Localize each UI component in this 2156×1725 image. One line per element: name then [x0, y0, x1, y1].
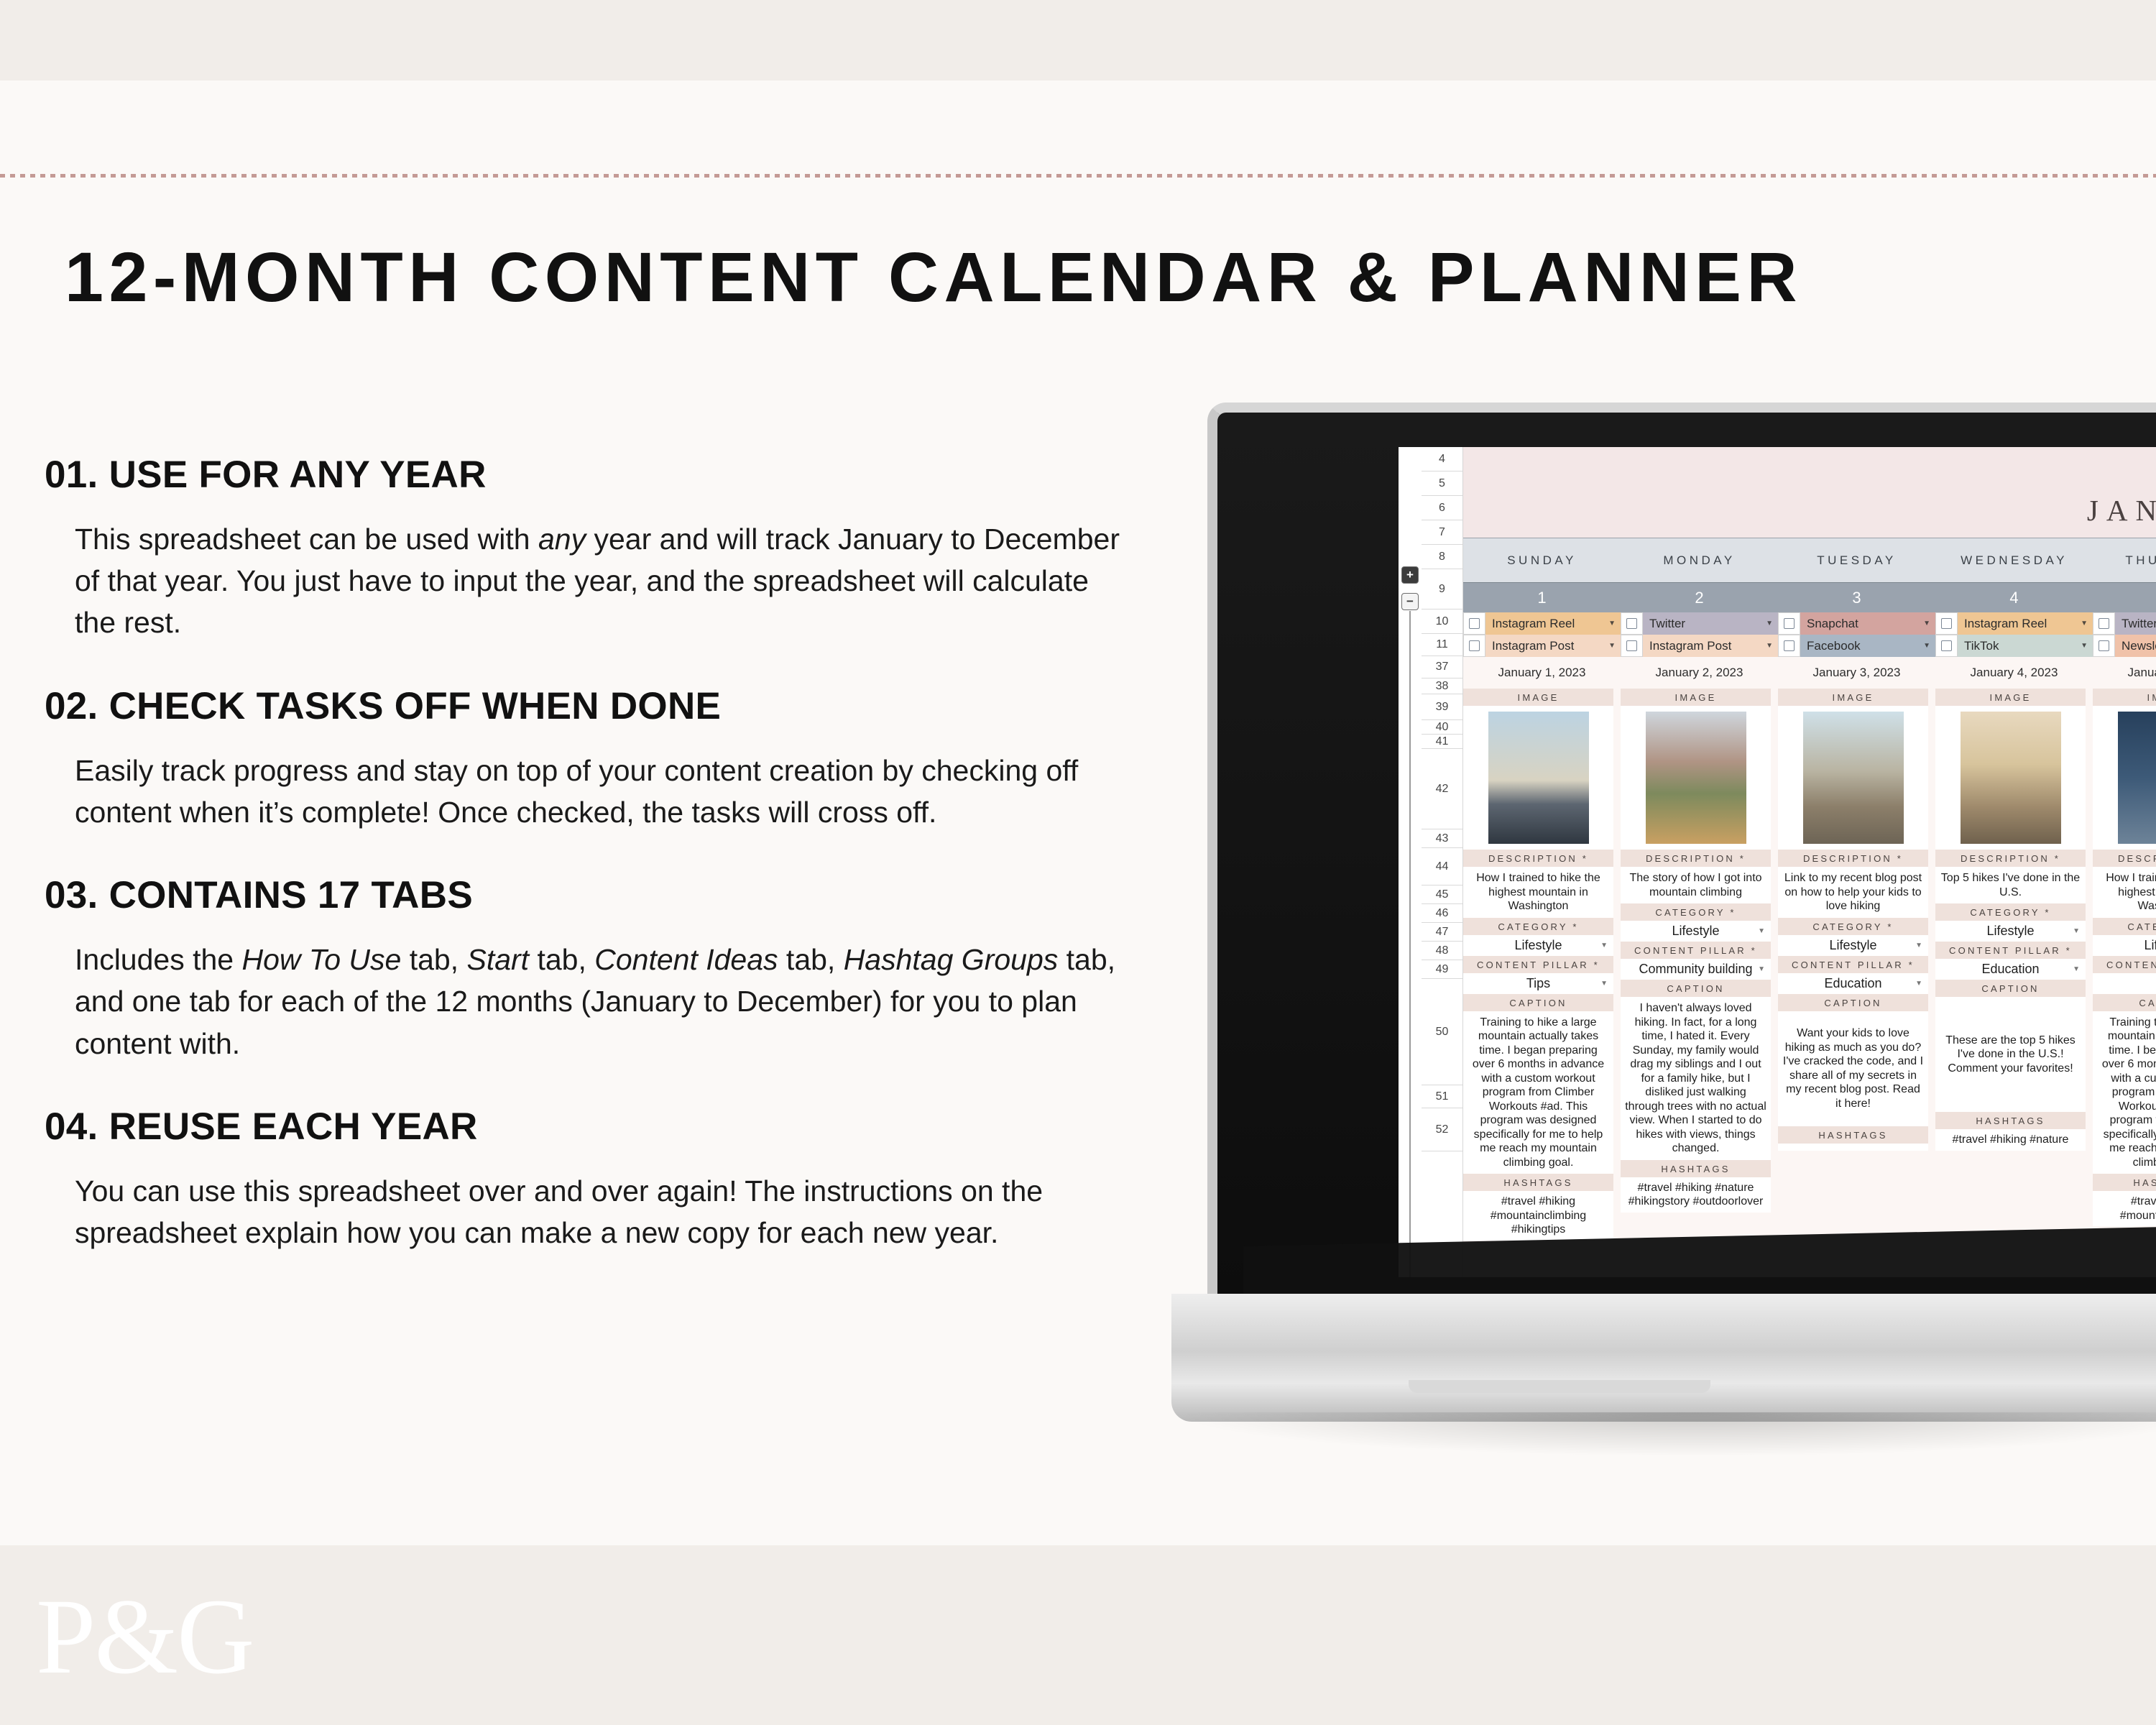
channel-label: Twitter: [1649, 617, 1685, 631]
description-field-label: DESCRIPTION *: [1778, 850, 1928, 867]
sheet-grid[interactable]: JANUARY SUNDAYMONDAYTUESDAYWEDNESDAYTHUR…: [1463, 447, 2156, 1277]
checkbox-icon: [1469, 618, 1480, 629]
content-pillar-field-label: CONTENT PILLAR *: [1778, 956, 1928, 973]
chevron-down-icon[interactable]: ▼: [1608, 620, 1616, 627]
chevron-down-icon[interactable]: ▼: [1915, 942, 1922, 949]
channel-label: Snapchat: [1807, 617, 1858, 631]
category-dropdown[interactable]: Lifestyle▼: [1935, 921, 2086, 942]
channel-cell[interactable]: Instagram Post▼: [1621, 635, 1778, 657]
row-number[interactable]: 47: [1422, 923, 1462, 942]
category-dropdown[interactable]: Lifestyle▼: [2093, 935, 2156, 956]
feature-section-2: 02. CHECK TASKS OFF WHEN DONEEasily trac…: [45, 684, 1137, 833]
brand-logo: P&G: [36, 1583, 253, 1690]
content-pillar-dropdown[interactable]: Community building▼: [1621, 959, 1771, 980]
day-number: 5: [2093, 589, 2156, 607]
category-field-label: CATEGORY *: [1621, 903, 1771, 921]
chevron-down-icon[interactable]: ▼: [1766, 642, 1773, 650]
group-gutter[interactable]: + −: [1399, 447, 1422, 1277]
channel-cell[interactable]: Instagram Post▼: [1463, 635, 1621, 657]
content-pillar-field-label: CONTENT PILLAR *: [1621, 942, 1771, 959]
channel-cell[interactable]: Twitter▼: [1621, 612, 1778, 635]
chevron-down-icon[interactable]: ▼: [1923, 642, 1930, 650]
feature-section-body: You can use this spreadsheet over and ov…: [75, 1170, 1124, 1253]
chevron-down-icon[interactable]: ▼: [2073, 927, 2080, 935]
feature-sections: 01. USE FOR ANY YEARThis spreadsheet can…: [45, 453, 1137, 1294]
day-number-row: 12345: [1463, 582, 2156, 612]
day-name: WEDNESDAY: [1935, 553, 2093, 568]
channel-label: Facebook: [1807, 639, 1861, 653]
chevron-down-icon[interactable]: ▼: [1758, 965, 1765, 973]
image-field-label: IMAGE: [2093, 689, 2156, 706]
hashtags-value[interactable]: [1778, 1144, 1928, 1151]
row-number[interactable]: 4: [1422, 447, 1462, 471]
day-name: MONDAY: [1621, 553, 1778, 568]
channel-dropdown[interactable]: Instagram Reel▼: [1958, 612, 2093, 635]
caption-value[interactable]: These are the top 5 hikes I've done in t…: [1935, 997, 2086, 1112]
description-value[interactable]: How I trained to hike the highest mounta…: [2093, 867, 2156, 918]
channel-dropdown[interactable]: Twitter▼: [1643, 612, 1778, 635]
checkbox-icon: [2099, 640, 2109, 651]
photo-thumbnail: [1961, 712, 2061, 844]
caption-value[interactable]: Want your kids to love hiking as much as…: [1778, 1011, 1928, 1126]
channel-cell[interactable]: Newsletter▼: [2093, 635, 2156, 657]
date-cell: January 3, 2023: [1778, 657, 1935, 689]
row-number[interactable]: 39: [1422, 694, 1462, 720]
description-value[interactable]: Link to my recent blog post on how to he…: [1778, 867, 1928, 918]
task-checkbox[interactable]: [1621, 635, 1643, 657]
row-number[interactable]: 5: [1422, 471, 1462, 496]
feature-section-title: 04. REUSE EACH YEAR: [45, 1105, 1137, 1149]
row-number[interactable]: 45: [1422, 885, 1462, 904]
date-row: January 1, 2023January 2, 2023January 3,…: [1463, 657, 2156, 689]
description-field-label: DESCRIPTION *: [2093, 850, 2156, 867]
channel-row-2[interactable]: Instagram Post▼Instagram Post▼Facebook▼T…: [1463, 635, 2156, 657]
hashtags-field-label: HASHTAGS: [1935, 1112, 2086, 1129]
photo-thumbnail: [1646, 712, 1746, 844]
row-number[interactable]: 37: [1422, 656, 1462, 678]
feature-section-1: 01. USE FOR ANY YEARThis spreadsheet can…: [45, 453, 1137, 644]
description-field-label: DESCRIPTION *: [1935, 850, 2086, 867]
chevron-down-icon[interactable]: ▼: [1758, 927, 1765, 935]
category-field-label: CATEGORY *: [1778, 918, 1928, 935]
card-image: [2093, 706, 2156, 850]
task-checkbox[interactable]: [1778, 612, 1800, 635]
hashtags-field-label: HASHTAGS: [1621, 1160, 1771, 1177]
channel-cell[interactable]: Instagram Reel▼: [1463, 612, 1621, 635]
channel-row-1[interactable]: Instagram Reel▼Twitter▼Snapchat▼Instagra…: [1463, 612, 2156, 635]
row-number[interactable]: 8: [1422, 545, 1462, 569]
chevron-down-icon[interactable]: ▼: [1608, 642, 1616, 650]
checkbox-icon: [1626, 640, 1637, 651]
content-card-row[interactable]: IMAGEDESCRIPTION *How I trained to hike …: [1463, 689, 2156, 1241]
caption-field-label: CAPTION: [2093, 994, 2156, 1011]
row-number[interactable]: 51: [1422, 1085, 1462, 1108]
image-field-label: IMAGE: [1935, 689, 2086, 706]
day-number: 3: [1778, 589, 1935, 607]
channel-label: Instagram Post: [1649, 639, 1731, 653]
laptop-base: [1171, 1294, 2156, 1422]
content-pillar-dropdown[interactable]: Tips▼: [2093, 973, 2156, 994]
chevron-down-icon[interactable]: ▼: [1600, 980, 1608, 988]
row-number[interactable]: 7: [1422, 520, 1462, 545]
laptop-lid: + − 456789101137383940414243444546474849…: [1207, 402, 2156, 1294]
category-dropdown[interactable]: Lifestyle▼: [1463, 935, 1613, 956]
row-number[interactable]: 6: [1422, 496, 1462, 520]
image-field-label: IMAGE: [1463, 689, 1613, 706]
row-number[interactable]: 50: [1422, 979, 1462, 1085]
row-number[interactable]: 11: [1422, 634, 1462, 656]
row-number[interactable]: 38: [1422, 678, 1462, 694]
task-checkbox[interactable]: [2093, 612, 2115, 635]
chevron-down-icon[interactable]: ▼: [1600, 942, 1608, 949]
hashtags-value[interactable]: #travel #hiking #mountainclimbing: [2093, 1191, 2156, 1226]
checkbox-icon: [2099, 618, 2109, 629]
feature-section-title: 01. USE FOR ANY YEAR: [45, 453, 1137, 497]
day-name: SUNDAY: [1463, 553, 1621, 568]
chevron-down-icon[interactable]: ▼: [1923, 620, 1930, 627]
channel-dropdown[interactable]: Instagram Post▼: [1485, 635, 1621, 657]
content-card[interactable]: IMAGEDESCRIPTION *How I trained to hike …: [1463, 689, 1621, 1241]
row-number[interactable]: 48: [1422, 942, 1462, 960]
channel-dropdown[interactable]: Snapchat▼: [1800, 612, 1935, 635]
task-checkbox[interactable]: [1621, 612, 1643, 635]
feature-section-body: Easily track progress and stay on top of…: [75, 750, 1124, 833]
laptop-shadow: [1186, 1412, 2156, 1455]
description-value[interactable]: Top 5 hikes I've done in the U.S.: [1935, 867, 2086, 903]
day-name-header-row: SUNDAYMONDAYTUESDAYWEDNESDAYTHURSDAY: [1463, 538, 2156, 582]
row-number[interactable]: 42: [1422, 749, 1462, 829]
row-number[interactable]: 52: [1422, 1108, 1462, 1151]
channel-cell[interactable]: Facebook▼: [1778, 635, 1935, 657]
hashtags-field-label: HASHTAGS: [2093, 1174, 2156, 1191]
feature-section-title: 03. CONTAINS 17 TABS: [45, 873, 1137, 917]
checkbox-icon: [1626, 618, 1637, 629]
day-number: 2: [1621, 589, 1778, 607]
channel-label: Instagram Reel: [1492, 617, 1575, 631]
laptop-screen: + − 456789101137383940414243444546474849…: [1399, 447, 2156, 1277]
task-checkbox[interactable]: [1935, 612, 1958, 635]
row-number[interactable]: 40: [1422, 720, 1462, 735]
channel-dropdown[interactable]: Twitter▼: [2115, 612, 2156, 635]
hashtags-field-label: HASHTAGS: [1778, 1126, 1928, 1144]
group-rail: [1409, 611, 1411, 1277]
card-image: [1778, 706, 1928, 850]
day-name: TUESDAY: [1778, 553, 1935, 568]
channel-cell[interactable]: Twitter▼: [2093, 612, 2156, 635]
category-field-label: CATEGORY *: [2093, 918, 2156, 935]
caption-field-label: CAPTION: [1463, 994, 1613, 1011]
channel-cell[interactable]: TikTok▼: [1935, 635, 2093, 657]
row-number[interactable]: 9: [1422, 569, 1462, 609]
photo-thumbnail: [2118, 712, 2156, 844]
photo-thumbnail: [1488, 712, 1589, 844]
page-title: 12-MONTH CONTENT CALENDAR & PLANNER: [65, 237, 2077, 318]
category-dropdown[interactable]: Lifestyle▼: [1621, 921, 1771, 942]
month-banner: JANUARY: [1463, 447, 2156, 538]
image-field-label: IMAGE: [1621, 689, 1771, 706]
content-card[interactable]: IMAGEDESCRIPTION *Link to my recent blog…: [1778, 689, 1935, 1241]
channel-cell[interactable]: Instagram Reel▼: [1935, 612, 2093, 635]
content-card[interactable]: IMAGEDESCRIPTION *How I trained to hike …: [2093, 689, 2156, 1241]
top-band: [0, 0, 2156, 80]
month-title: JANUARY: [2087, 493, 2156, 528]
hashtags-value[interactable]: #travel #hiking #nature #hikingstory #ou…: [1621, 1177, 1771, 1213]
feature-section-title: 02. CHECK TASKS OFF WHEN DONE: [45, 684, 1137, 728]
channel-cell[interactable]: Snapchat▼: [1778, 612, 1935, 635]
content-pillar-field-label: CONTENT PILLAR *: [1935, 942, 2086, 959]
feature-section-body: This spreadsheet can be used with any ye…: [75, 518, 1124, 644]
content-pillar-field-label: CONTENT PILLAR *: [2093, 956, 2156, 973]
top-dotted-divider: [0, 174, 2156, 178]
day-name: THURSDAY: [2093, 553, 2156, 568]
chevron-down-icon[interactable]: ▼: [2073, 965, 2080, 973]
content-pillar-dropdown[interactable]: Education▼: [1935, 959, 2086, 980]
channel-dropdown[interactable]: Newsletter▼: [2115, 635, 2156, 657]
task-checkbox[interactable]: [1463, 635, 1485, 657]
caption-field-label: CAPTION: [1935, 980, 2086, 997]
caption-field-label: CAPTION: [1778, 994, 1928, 1011]
card-image: [1621, 706, 1771, 850]
hashtags-value[interactable]: #travel #hiking #nature: [1935, 1129, 2086, 1151]
date-cell: January 1, 2023: [1463, 657, 1621, 689]
content-pillar-dropdown[interactable]: Tips▼: [1463, 973, 1613, 994]
bottom-band: [0, 1545, 2156, 1725]
content-card[interactable]: IMAGEDESCRIPTION *Top 5 hikes I've done …: [1935, 689, 2093, 1241]
date-cell: January 2, 2023: [1621, 657, 1778, 689]
feature-section-3: 03. CONTAINS 17 TABSIncludes the How To …: [45, 873, 1137, 1064]
row-number[interactable]: 49: [1422, 960, 1462, 979]
row-number[interactable]: 41: [1422, 735, 1462, 749]
checkbox-icon: [1784, 640, 1795, 651]
description-value[interactable]: How I trained to hike the highest mounta…: [1463, 867, 1613, 918]
channel-label: Instagram Reel: [1964, 617, 2047, 631]
expand-group-button[interactable]: +: [1401, 566, 1419, 584]
card-image: [1935, 706, 2086, 850]
caption-value[interactable]: Training to hike a large mountain actual…: [2093, 1011, 2156, 1174]
content-card[interactable]: IMAGEDESCRIPTION *The story of how I got…: [1621, 689, 1778, 1241]
date-cell: January 5, 2023: [2093, 657, 2156, 689]
row-number[interactable]: 46: [1422, 904, 1462, 923]
category-dropdown[interactable]: Lifestyle▼: [1778, 935, 1928, 956]
channel-dropdown[interactable]: TikTok▼: [1958, 635, 2093, 657]
hashtags-value[interactable]: #travel #hiking #mountainclimbing #hikin…: [1463, 1191, 1613, 1241]
spreadsheet[interactable]: + − 456789101137383940414243444546474849…: [1399, 447, 2156, 1277]
chevron-down-icon[interactable]: ▼: [1915, 980, 1922, 988]
description-field-label: DESCRIPTION *: [1621, 850, 1771, 867]
day-number: 4: [1935, 589, 2093, 607]
channel-label: Newsletter: [2122, 639, 2156, 653]
image-field-label: IMAGE: [1778, 689, 1928, 706]
day-number: 1: [1463, 589, 1621, 607]
checkbox-icon: [1941, 640, 1952, 651]
category-field-label: CATEGORY *: [1463, 918, 1613, 935]
category-field-label: CATEGORY *: [1935, 903, 2086, 921]
task-checkbox[interactable]: [1935, 635, 1958, 657]
feature-section-body: Includes the How To Use tab, Start tab, …: [75, 939, 1124, 1064]
checkbox-icon: [1784, 618, 1795, 629]
channel-dropdown[interactable]: Instagram Reel▼: [1485, 612, 1621, 635]
date-cell: January 4, 2023: [1935, 657, 2093, 689]
feature-section-4: 04. REUSE EACH YEARYou can use this spre…: [45, 1105, 1137, 1253]
channel-label: TikTok: [1964, 639, 1999, 653]
task-checkbox[interactable]: [2093, 635, 2115, 657]
chevron-down-icon[interactable]: ▼: [2081, 642, 2088, 650]
chevron-down-icon[interactable]: ▼: [1766, 620, 1773, 627]
channel-label: Twitter: [2122, 617, 2156, 631]
description-field-label: DESCRIPTION *: [1463, 850, 1613, 867]
collapse-group-button[interactable]: −: [1401, 593, 1419, 610]
row-number[interactable]: 43: [1422, 829, 1462, 848]
channel-dropdown[interactable]: Instagram Post▼: [1643, 635, 1778, 657]
content-pillar-dropdown[interactable]: Education▼: [1778, 973, 1928, 994]
channel-dropdown[interactable]: Facebook▼: [1800, 635, 1935, 657]
caption-value[interactable]: Training to hike a large mountain actual…: [1463, 1011, 1613, 1174]
checkbox-icon: [1469, 640, 1480, 651]
caption-field-label: CAPTION: [1621, 980, 1771, 997]
row-number[interactable]: 44: [1422, 848, 1462, 885]
content-pillar-field-label: CONTENT PILLAR *: [1463, 956, 1613, 973]
card-image: [1463, 706, 1613, 850]
task-checkbox[interactable]: [1778, 635, 1800, 657]
caption-value[interactable]: I haven't always loved hiking. In fact, …: [1621, 997, 1771, 1160]
row-number-column[interactable]: 4567891011373839404142434445464748495051…: [1422, 447, 1463, 1277]
description-value[interactable]: The story of how I got into mountain cli…: [1621, 867, 1771, 903]
task-checkbox[interactable]: [1463, 612, 1485, 635]
hashtags-field-label: HASHTAGS: [1463, 1174, 1613, 1191]
laptop-mockup: + − 456789101137383940414243444546474849…: [1064, 402, 2156, 1524]
channel-label: Instagram Post: [1492, 639, 1574, 653]
chevron-down-icon[interactable]: ▼: [2081, 620, 2088, 627]
row-number[interactable]: 10: [1422, 609, 1462, 634]
checkbox-icon: [1941, 618, 1952, 629]
photo-thumbnail: [1803, 712, 1904, 844]
